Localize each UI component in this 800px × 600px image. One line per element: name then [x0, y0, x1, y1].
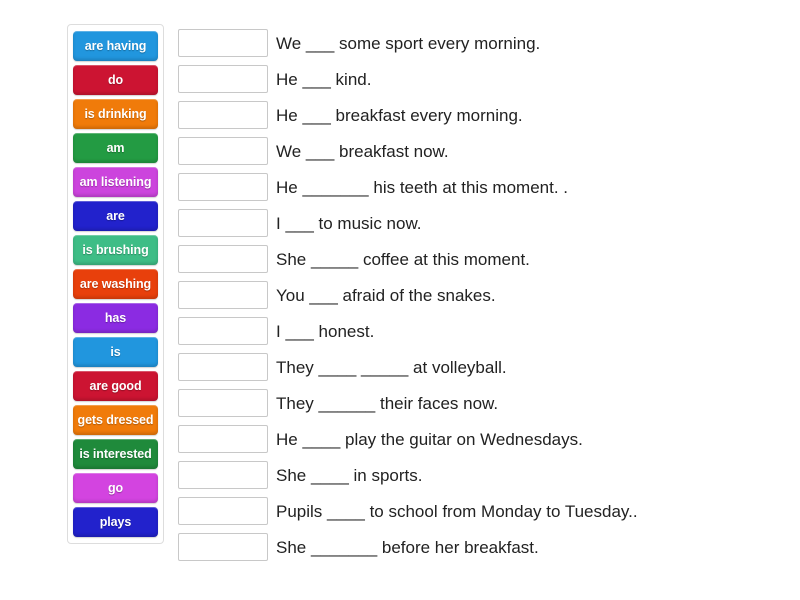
answer-drop-box[interactable]	[178, 209, 268, 237]
word-tile[interactable]: are	[73, 201, 158, 231]
sentence-text: I ___ honest.	[276, 323, 374, 340]
answer-drop-box[interactable]	[178, 245, 268, 273]
sentence-text: We ___ some sport every morning.	[276, 35, 540, 52]
answer-drop-box[interactable]	[178, 137, 268, 165]
answer-drop-box[interactable]	[178, 29, 268, 57]
answer-row: He ____ play the guitar on Wednesdays.	[178, 421, 790, 457]
answer-row: She _______ before her breakfast.	[178, 529, 790, 565]
sentence-text: He ____ play the guitar on Wednesdays.	[276, 431, 583, 448]
sentence-text: Pupils ____ to school from Monday to Tue…	[276, 503, 638, 520]
sentence-text: He ___ kind.	[276, 71, 371, 88]
answer-row: They ____ _____ at volleyball.	[178, 349, 790, 385]
word-tile[interactable]: are good	[73, 371, 158, 401]
sentence-text: We ___ breakfast now.	[276, 143, 449, 160]
answer-row: He ___ breakfast every morning.	[178, 97, 790, 133]
sentence-text: They ____ _____ at volleyball.	[276, 359, 507, 376]
answer-drop-box[interactable]	[178, 101, 268, 129]
word-tile[interactable]: go	[73, 473, 158, 503]
answer-row: We ___ breakfast now.	[178, 133, 790, 169]
word-tile[interactable]: is brushing	[73, 235, 158, 265]
sentence-text: She _____ coffee at this moment.	[276, 251, 530, 268]
answer-drop-box[interactable]	[178, 173, 268, 201]
answer-row: She ____ in sports.	[178, 457, 790, 493]
word-tile[interactable]: is drinking	[73, 99, 158, 129]
word-tile[interactable]: is	[73, 337, 158, 367]
answer-drop-box[interactable]	[178, 497, 268, 525]
exercise-page: are havingdois drinkingamam listeningare…	[0, 0, 800, 600]
word-tile[interactable]: am	[73, 133, 158, 163]
answer-row: He ___ kind.	[178, 61, 790, 97]
word-tile[interactable]: is interested	[73, 439, 158, 469]
answer-row: She _____ coffee at this moment.	[178, 241, 790, 277]
sentence-text: He ___ breakfast every morning.	[276, 107, 523, 124]
answer-row: We ___ some sport every morning.	[178, 25, 790, 61]
word-tile[interactable]: do	[73, 65, 158, 95]
answer-drop-box[interactable]	[178, 533, 268, 561]
answer-drop-box[interactable]	[178, 461, 268, 489]
word-tile[interactable]: am listening	[73, 167, 158, 197]
answer-drop-box[interactable]	[178, 317, 268, 345]
answer-drop-box[interactable]	[178, 425, 268, 453]
sentence-text: You ___ afraid of the snakes.	[276, 287, 496, 304]
answer-drop-box[interactable]	[178, 389, 268, 417]
answer-row: He _______ his teeth at this moment. .	[178, 169, 790, 205]
answer-rows-list: We ___ some sport every morning.He ___ k…	[178, 25, 790, 565]
sentence-text: She _______ before her breakfast.	[276, 539, 539, 556]
word-bank-panel: are havingdois drinkingamam listeningare…	[67, 24, 164, 544]
sentence-text: He _______ his teeth at this moment. .	[276, 179, 568, 196]
answer-row: Pupils ____ to school from Monday to Tue…	[178, 493, 790, 529]
answer-row: I ___ to music now.	[178, 205, 790, 241]
word-tile[interactable]: are washing	[73, 269, 158, 299]
sentence-text: I ___ to music now.	[276, 215, 422, 232]
sentence-text: They ______ their faces now.	[276, 395, 498, 412]
word-tile[interactable]: has	[73, 303, 158, 333]
word-tile[interactable]: gets dressed	[73, 405, 158, 435]
answer-drop-box[interactable]	[178, 65, 268, 93]
answer-drop-box[interactable]	[178, 353, 268, 381]
word-tile[interactable]: plays	[73, 507, 158, 537]
answer-row: They ______ their faces now.	[178, 385, 790, 421]
answer-row: I ___ honest.	[178, 313, 790, 349]
answer-row: You ___ afraid of the snakes.	[178, 277, 790, 313]
answer-drop-box[interactable]	[178, 281, 268, 309]
word-tile[interactable]: are having	[73, 31, 158, 61]
sentence-text: She ____ in sports.	[276, 467, 422, 484]
